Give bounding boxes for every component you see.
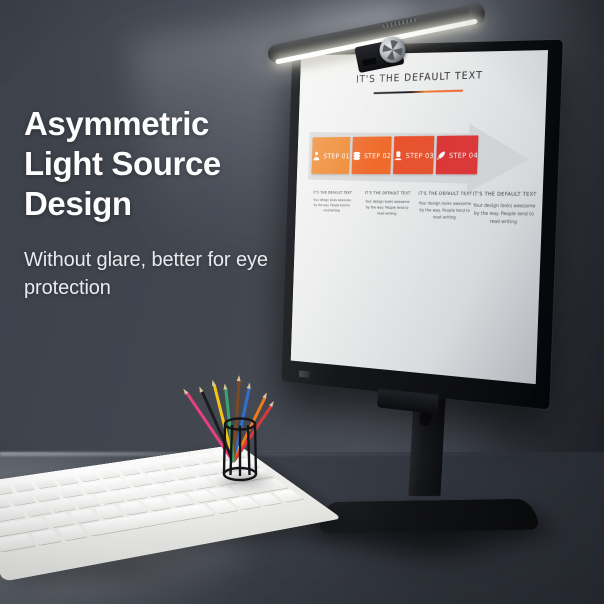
column-body-3: Your design looks awesome by the way. Pe… [416, 200, 472, 221]
key[interactable] [95, 467, 121, 478]
key[interactable] [0, 534, 35, 552]
column-heading-2: IT'S THE DEFAULT TEXT [364, 192, 411, 196]
key[interactable] [71, 495, 100, 508]
key[interactable] [32, 530, 62, 546]
subheadline: Without glare, better for eye protection [24, 246, 292, 302]
column-heading-3: IT'S THE DEFAULT TEXT [417, 192, 472, 197]
step-box-1: STEP 01 [311, 137, 350, 174]
headline-line-1: Asymmetric [24, 105, 209, 142]
slide-column-4: IT'S THE DEFAULT TEXT Your design looks … [471, 192, 538, 226]
slide-column-2: IT'S THE DEFAULT TEXT Your design looks … [363, 192, 411, 217]
column-body-2: Your design looks awesome by the way. Pe… [363, 198, 410, 216]
step-label-3: STEP 03 [406, 151, 434, 160]
key[interactable] [47, 499, 76, 513]
pen-holder-wire-cup [218, 416, 262, 482]
column-body-1: Your design looks awesome by the way. Pe… [312, 197, 352, 213]
user-group-icon [312, 151, 321, 161]
slide-text-columns: IT'S THE DEFAULT TEXT Your design looks … [307, 191, 533, 221]
step-label-2: STEP 02 [364, 151, 391, 160]
key[interactable] [22, 503, 51, 517]
rocket-icon [436, 150, 446, 161]
monitor-screen: IT'S THE DEFAULT TEXT STEP 01 STE [291, 50, 548, 384]
column-heading-4: IT'S THE DEFAULT TEXT [472, 192, 538, 198]
step-label-4: STEP 04 [449, 150, 478, 159]
headline-line-3: Design [24, 185, 132, 222]
presentation-slide: IT'S THE DEFAULT TEXT STEP 01 STE [291, 50, 548, 384]
step-box-2: STEP 02 [352, 136, 392, 174]
step-label-1: STEP 01 [323, 151, 350, 159]
key[interactable] [45, 513, 74, 527]
slide-title-rule [374, 90, 463, 95]
key[interactable] [32, 488, 60, 501]
key[interactable] [79, 481, 107, 493]
key[interactable] [53, 474, 78, 486]
key[interactable] [0, 483, 13, 495]
key[interactable] [11, 480, 36, 492]
key[interactable] [56, 485, 84, 498]
step-row: STEP 01 STEP 02 STEP 03 [311, 135, 472, 174]
slide-column-3: IT'S THE DEFAULT TEXT Your design looks … [416, 192, 472, 221]
wire-pen-holder [196, 358, 280, 488]
marketing-copy: Asymmetric Light Source Design Without g… [24, 104, 292, 302]
key[interactable] [57, 525, 87, 540]
product-marketing-image: Asymmetric Light Source Design Without g… [0, 0, 604, 604]
desk-front-edge [0, 452, 604, 456]
key[interactable] [32, 477, 57, 489]
headline-line-2: Light Source [24, 145, 221, 182]
key[interactable] [8, 492, 36, 505]
headline: Asymmetric Light Source Design [24, 104, 292, 224]
column-body-4: Your design looks awesome by the way. Pe… [471, 201, 537, 226]
key[interactable] [74, 470, 99, 481]
key[interactable] [94, 505, 124, 519]
brightness-dial[interactable] [377, 35, 408, 66]
key[interactable] [95, 491, 124, 504]
key[interactable] [70, 509, 100, 523]
step-box-4: STEP 04 [436, 135, 479, 174]
monitor-stand-base [315, 499, 543, 534]
step-box-3: STEP 03 [393, 136, 434, 174]
coin-stack-icon [352, 150, 362, 160]
column-heading-1: IT'S THE DEFAULT TEXT [312, 191, 352, 195]
monitor-brand-logo [299, 370, 310, 377]
computer-monitor: IT'S THE DEFAULT TEXT STEP 01 STE [281, 40, 563, 410]
slide-column-1: IT'S THE DEFAULT TEXT Your design looks … [312, 191, 353, 213]
hand-device-icon [394, 150, 404, 160]
